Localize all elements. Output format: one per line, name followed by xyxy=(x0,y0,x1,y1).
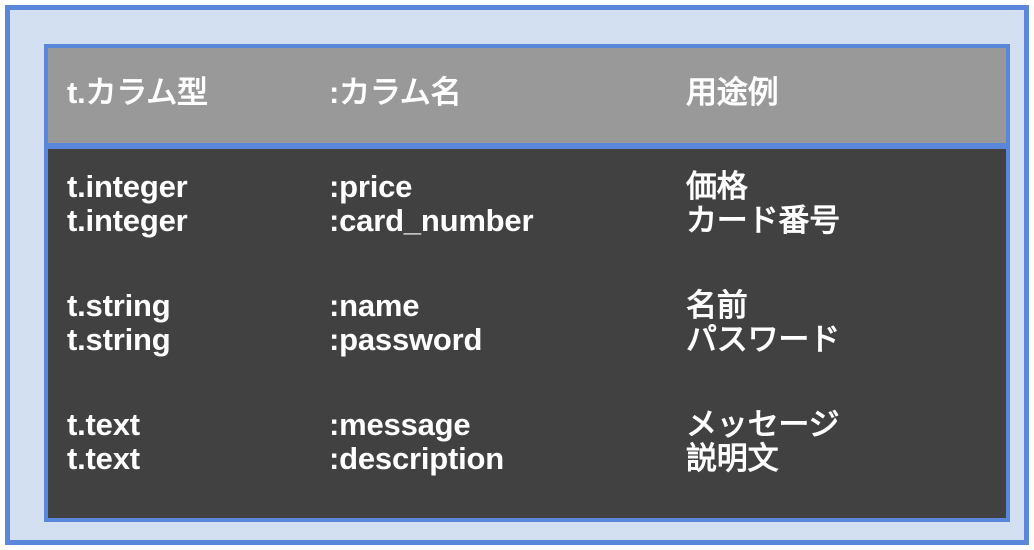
table-header-row: t.カラム型 :カラム名 用途例 xyxy=(48,48,1006,143)
cell-usage: 名前 xyxy=(686,290,748,321)
column-header-type: t.カラム型 xyxy=(67,77,208,108)
cell-type: t.integer xyxy=(67,171,188,202)
cell-type: t.integer xyxy=(67,205,188,236)
column-header-name: :カラム名 xyxy=(329,77,461,108)
cell-type: t.text xyxy=(67,409,140,440)
column-header-usage: 用途例 xyxy=(686,77,778,108)
cell-type: t.text xyxy=(67,443,140,474)
cell-usage: 価格 xyxy=(686,171,748,202)
cell-usage: 説明文 xyxy=(686,443,778,474)
table-body: t.integer :price 価格 t.integer :card_numb… xyxy=(48,149,1006,518)
cell-column-name: :card_number xyxy=(329,205,533,236)
cell-column-name: :password xyxy=(329,324,482,355)
cell-column-name: :description xyxy=(329,443,504,474)
outer-panel: t.カラム型 :カラム名 用途例 t.integer :price 価格 t.i… xyxy=(5,5,1029,545)
cell-type: t.string xyxy=(67,324,170,355)
cell-column-name: :message xyxy=(329,409,470,440)
cell-usage: パスワード xyxy=(686,324,840,355)
cell-usage: メッセージ xyxy=(686,409,839,440)
cell-column-name: :price xyxy=(329,171,412,202)
column-type-table: t.カラム型 :カラム名 用途例 t.integer :price 価格 t.i… xyxy=(44,44,1010,522)
cell-type: t.string xyxy=(67,290,170,321)
cell-usage: カード番号 xyxy=(686,205,840,236)
cell-column-name: :name xyxy=(329,290,419,321)
